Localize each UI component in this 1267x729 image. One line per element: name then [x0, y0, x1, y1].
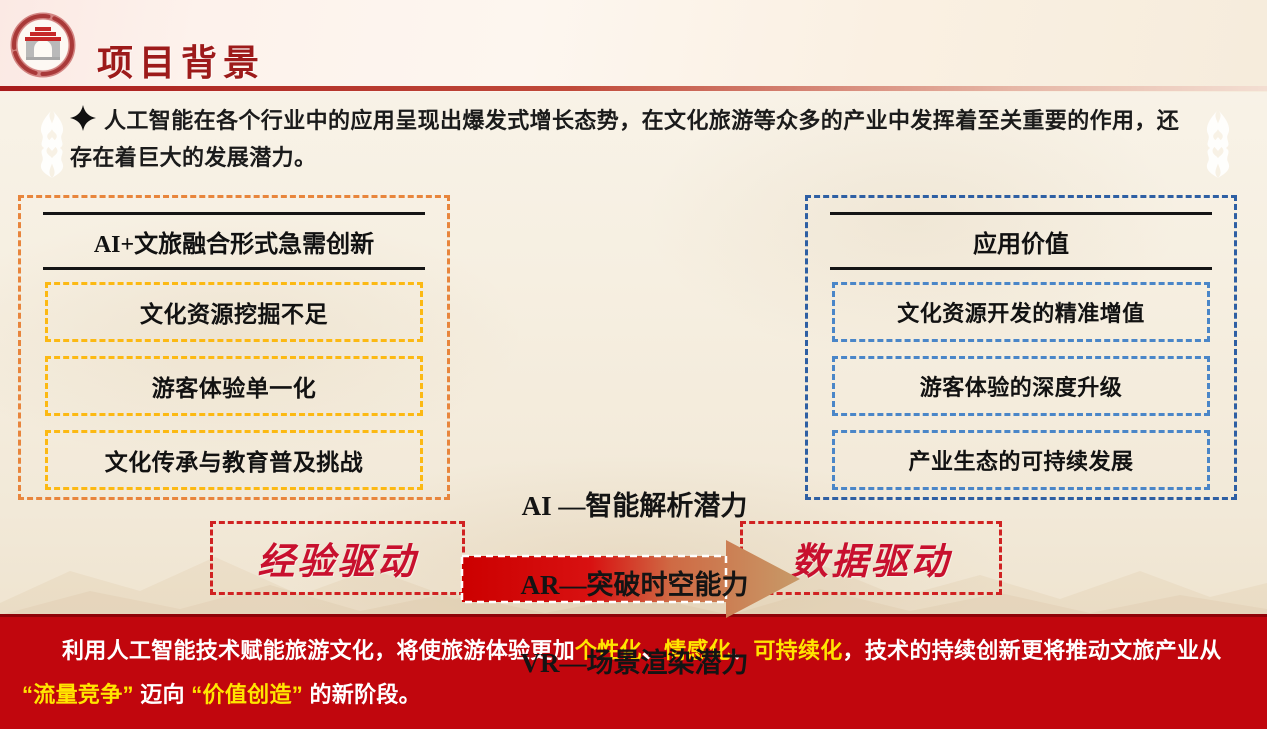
- banner-segment: ，技术的持续创新更将推动文旅产业从: [843, 638, 1222, 663]
- chinese-archway-icon: [6, 8, 80, 82]
- slide-header: 项目背景: [0, 0, 1267, 92]
- left-panel-item[interactable]: 游客体验单一化: [45, 356, 423, 416]
- left-panel-heading-main: 文旅融合形式急需创新: [134, 231, 374, 258]
- sparkle-star-icon: [70, 105, 100, 131]
- center-label-vr: VR—场景渲染潜力: [462, 641, 807, 680]
- slide-root: 项目背景 人工智能在各个行业中的应用呈现出爆发式增长态势，在文化旅游等众多的产业…: [0, 0, 1267, 729]
- intro-paragraph: 人工智能在各个行业中的应用呈现出爆发式增长态势，在文化旅游等众多的产业中发挥着至…: [70, 108, 1179, 170]
- right-panel-heading: 应用价值: [830, 212, 1212, 270]
- driver-box-experience[interactable]: 经验驱动: [210, 521, 465, 595]
- left-panel-challenges: AI+文旅融合形式急需创新 文化资源挖掘不足 游客体验单一化 文化传承与教育普及…: [18, 195, 450, 500]
- intro-text: 人工智能在各个行业中的应用呈现出爆发式增长态势，在文化旅游等众多的产业中发挥着至…: [70, 102, 1198, 176]
- banner-highlight: “价值创造”: [191, 682, 303, 707]
- right-panel-item[interactable]: 游客体验的深度升级: [832, 356, 1210, 416]
- right-panel-item[interactable]: 产业生态的可持续发展: [832, 430, 1210, 490]
- header-divider: [0, 86, 1267, 91]
- left-panel-heading-prefix: AI+: [94, 232, 134, 258]
- center-label-ai: AI —智能解析潜力: [462, 484, 807, 523]
- banner-segment: 的新阶段。: [303, 682, 421, 707]
- columns-area: AI+文旅融合形式急需创新 文化资源挖掘不足 游客体验单一化 文化传承与教育普及…: [0, 195, 1267, 515]
- center-technologies: AI —智能解析潜力 AR—突破时空能力 VR—场景渲染潜力: [462, 390, 807, 695]
- driver-label-experience: 经验驱动: [258, 531, 418, 585]
- left-panel-item[interactable]: 文化资源挖掘不足: [45, 282, 423, 342]
- banner-highlight: “流量竞争”: [22, 682, 134, 707]
- filigree-ornament-icon: [1190, 104, 1246, 184]
- intro-block: 人工智能在各个行业中的应用呈现出爆发式增长态势，在文化旅游等众多的产业中发挥着至…: [24, 100, 1246, 186]
- page-title: 项目背景: [97, 34, 265, 86]
- left-panel-heading: AI+文旅融合形式急需创新: [43, 212, 425, 270]
- right-panel-item[interactable]: 文化资源开发的精准增值: [832, 282, 1210, 342]
- left-panel-item[interactable]: 文化传承与教育普及挑战: [45, 430, 423, 490]
- right-panel-value: 应用价值 文化资源开发的精准增值 游客体验的深度升级 产业生态的可持续发展: [805, 195, 1237, 500]
- driver-label-data: 数据驱动: [791, 531, 951, 585]
- banner-segment: 迈向: [134, 682, 191, 707]
- center-label-ar: AR—突破时空能力: [462, 563, 807, 602]
